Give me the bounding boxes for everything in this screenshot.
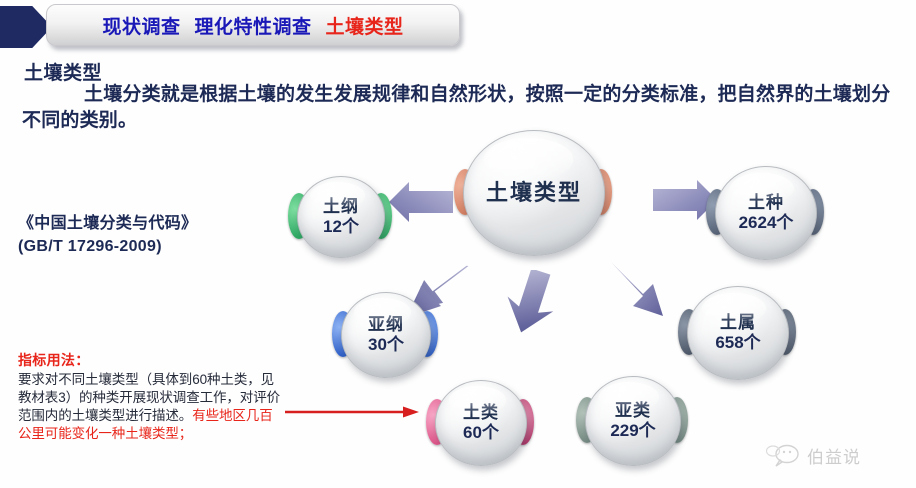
node-tugang-label: 土纲 xyxy=(323,198,359,217)
soil-classification-diagram: 土壤类型 土纲 12个 土种 2624个 亚纲 xyxy=(255,118,865,468)
diagram-node-tulei[interactable]: 土类 60个 xyxy=(435,380,525,464)
node-tushu-count: 658个 xyxy=(715,333,760,353)
node-tuzhong-label: 土种 xyxy=(748,194,784,213)
header-title-bar: 现状调查 理化特性调查 土壤类型 xyxy=(46,4,460,46)
watermark: 伯益说 xyxy=(766,434,906,476)
node-yagang-label: 亚纲 xyxy=(368,316,404,335)
header-segment-1: 现状调查 xyxy=(102,12,180,39)
node-yalei-label: 亚类 xyxy=(615,402,651,421)
arrow-to-tulei xyxy=(505,270,565,336)
speech-bubble-icon xyxy=(766,442,800,468)
diagram-node-center[interactable]: 土壤类型 xyxy=(463,130,603,254)
arrow-to-tugang xyxy=(387,180,453,224)
section-title: 土壤类型 xyxy=(24,58,102,85)
node-tuzhong-count: 2624个 xyxy=(739,213,794,233)
annotation-body: 要求对不同土壤类型（具体到60种土类，见教材表3）的种类开展现状调查工作，对评价… xyxy=(18,371,280,443)
navy-chevron-icon xyxy=(0,6,52,48)
arrow-to-tushu xyxy=(607,258,669,322)
header-segment-2: 理化特性调查 xyxy=(194,12,311,39)
annotation-heading: 指标用法： xyxy=(18,350,280,370)
watermark-text: 伯益说 xyxy=(807,443,861,468)
standard-name: 《中国土壤分类与代码》 xyxy=(18,212,268,235)
diagram-node-tuzhong[interactable]: 土种 2624个 xyxy=(715,166,815,258)
node-tulei-label: 土类 xyxy=(463,404,499,423)
node-yagang-count: 30个 xyxy=(368,335,404,355)
node-tugang-count: 12个 xyxy=(323,217,359,237)
diagram-node-yagang[interactable]: 亚纲 30个 xyxy=(341,292,429,376)
node-yalei-count: 229个 xyxy=(610,421,655,441)
diagram-node-tushu[interactable]: 土属 658个 xyxy=(687,286,787,378)
standard-code: (GB/T 17296-2009) xyxy=(18,235,268,258)
standard-reference: 《中国土壤分类与代码》 (GB/T 17296-2009) xyxy=(18,212,268,258)
header-segment-3: 土壤类型 xyxy=(326,12,404,39)
usage-annotation: 指标用法： 要求对不同土壤类型（具体到60种土类，见教材表3）的种类开展现状调查… xyxy=(18,350,280,443)
diagram-node-yalei[interactable]: 亚类 229个 xyxy=(585,376,679,464)
slide-canvas: 现状调查 理化特性调查 土壤类型 土壤类型 土壤分类就是根据土壤的发生发展规律和… xyxy=(0,0,916,488)
node-center-label: 土壤类型 xyxy=(486,181,582,205)
node-tushu-label: 土属 xyxy=(720,314,756,333)
node-tulei-count: 60个 xyxy=(463,423,499,443)
diagram-node-tugang[interactable]: 土纲 12个 xyxy=(297,176,383,256)
slide-header: 现状调查 理化特性调查 土壤类型 xyxy=(0,4,916,50)
